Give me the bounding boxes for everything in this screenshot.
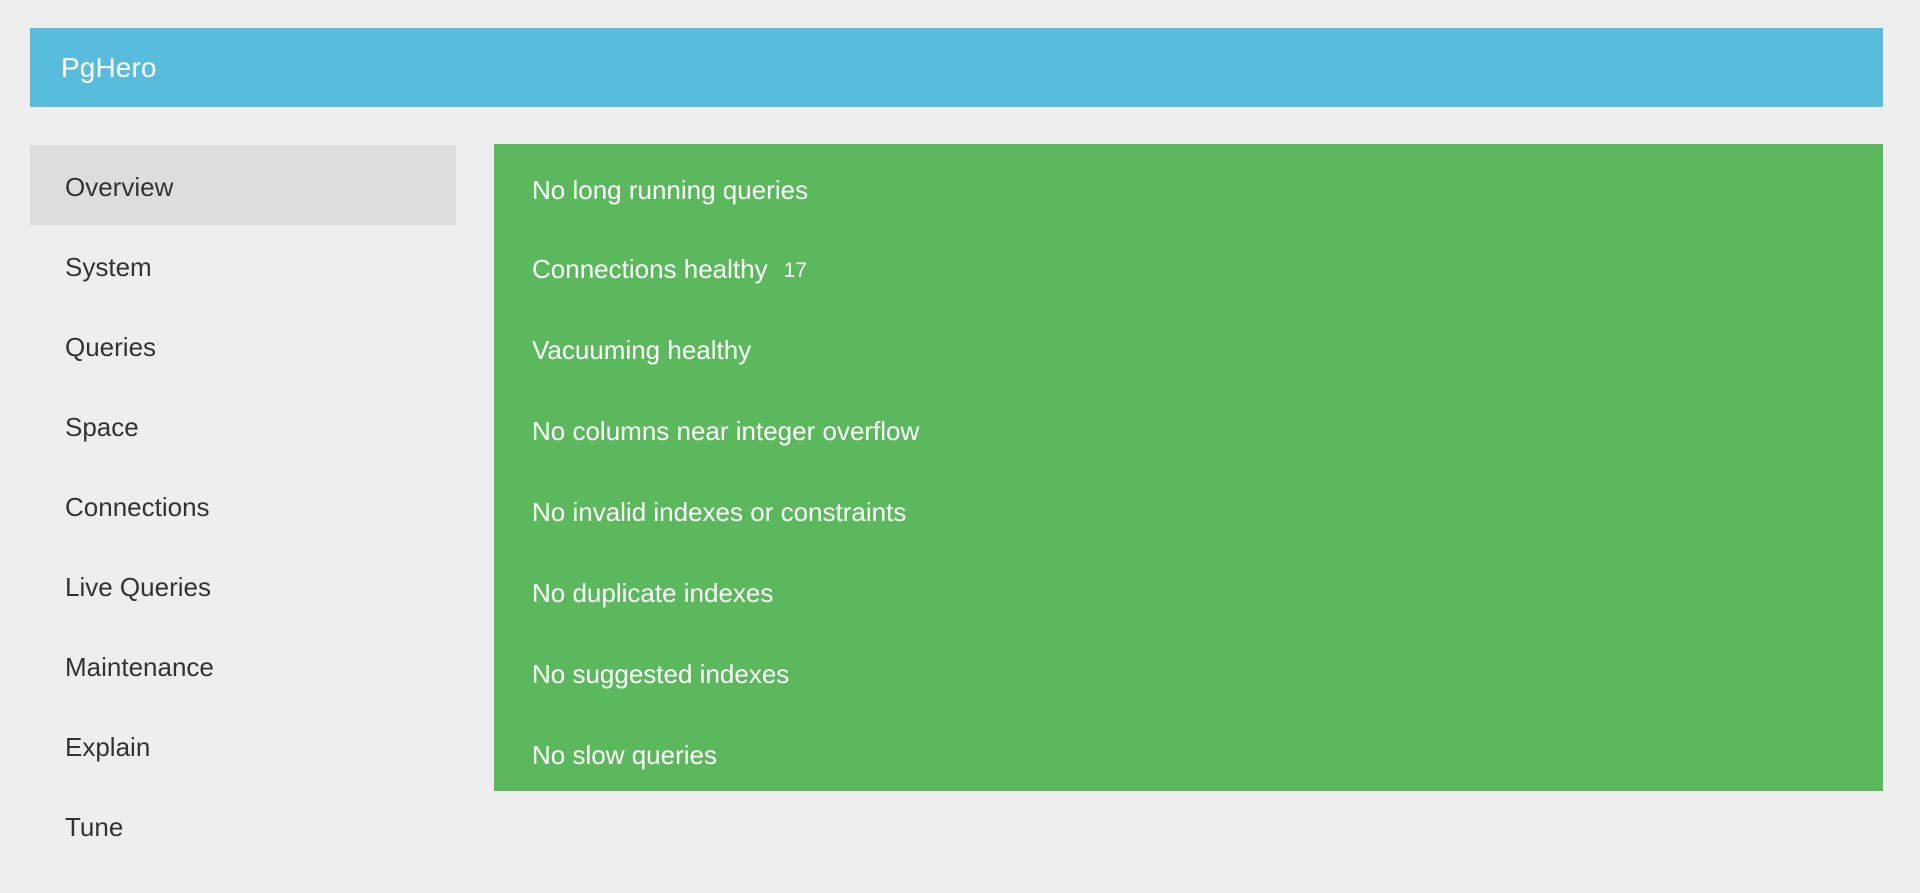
sidebar-item-label: Overview	[65, 172, 173, 203]
status-item[interactable]: No duplicate indexes	[494, 553, 1883, 634]
sidebar-item-overview[interactable]: Overview	[30, 145, 456, 225]
status-list: No long running queriesConnections healt…	[494, 144, 1883, 791]
status-item-label: No columns near integer overflow	[532, 416, 919, 446]
status-item[interactable]: No columns near integer overflow	[494, 391, 1883, 472]
app-root: PgHero OverviewSystemQueriesSpaceConnect…	[0, 0, 1920, 893]
navbar: PgHero	[30, 28, 1883, 107]
sidebar-item-space[interactable]: Space	[30, 385, 456, 465]
sidebar-item-maintenance[interactable]: Maintenance	[30, 625, 456, 705]
status-item-label: No slow queries	[532, 740, 717, 770]
status-item-label: No suggested indexes	[532, 659, 789, 689]
status-item[interactable]: No suggested indexes	[494, 634, 1883, 715]
status-item[interactable]: No slow queries	[494, 715, 1883, 791]
sidebar-item-label: Tune	[65, 812, 123, 843]
status-item[interactable]: No invalid indexes or constraints	[494, 472, 1883, 553]
sidebar-item-label: Connections	[65, 492, 210, 523]
status-item[interactable]: No long running queries	[494, 144, 1883, 229]
sidebar-item-label: System	[65, 252, 152, 283]
sidebar-item-label: Explain	[65, 732, 150, 763]
status-item[interactable]: Connections healthy17	[494, 229, 1883, 310]
sidebar-item-label: Queries	[65, 332, 156, 363]
status-item-label: Vacuuming healthy	[532, 335, 751, 365]
sidebar-item-queries[interactable]: Queries	[30, 305, 456, 385]
status-item[interactable]: Vacuuming healthy	[494, 310, 1883, 391]
sidebar-nav: OverviewSystemQueriesSpaceConnectionsLiv…	[30, 145, 456, 865]
navbar-brand-link[interactable]: PgHero	[61, 54, 157, 82]
sidebar-item-live-queries[interactable]: Live Queries	[30, 545, 456, 625]
overview-status-panel: No long running queriesConnections healt…	[494, 144, 1883, 791]
sidebar-item-label: Maintenance	[65, 652, 214, 683]
sidebar-item-tune[interactable]: Tune	[30, 785, 456, 865]
sidebar-item-connections[interactable]: Connections	[30, 465, 456, 545]
status-badge: 17	[784, 259, 807, 282]
status-item-label: No duplicate indexes	[532, 578, 773, 608]
sidebar-item-system[interactable]: System	[30, 225, 456, 305]
status-item-label: No long running queries	[532, 175, 808, 205]
status-item-label: No invalid indexes or constraints	[532, 497, 906, 527]
sidebar-item-explain[interactable]: Explain	[30, 705, 456, 785]
status-item-label: Connections healthy	[532, 254, 768, 284]
sidebar-item-label: Space	[65, 412, 139, 443]
sidebar-item-label: Live Queries	[65, 572, 211, 603]
